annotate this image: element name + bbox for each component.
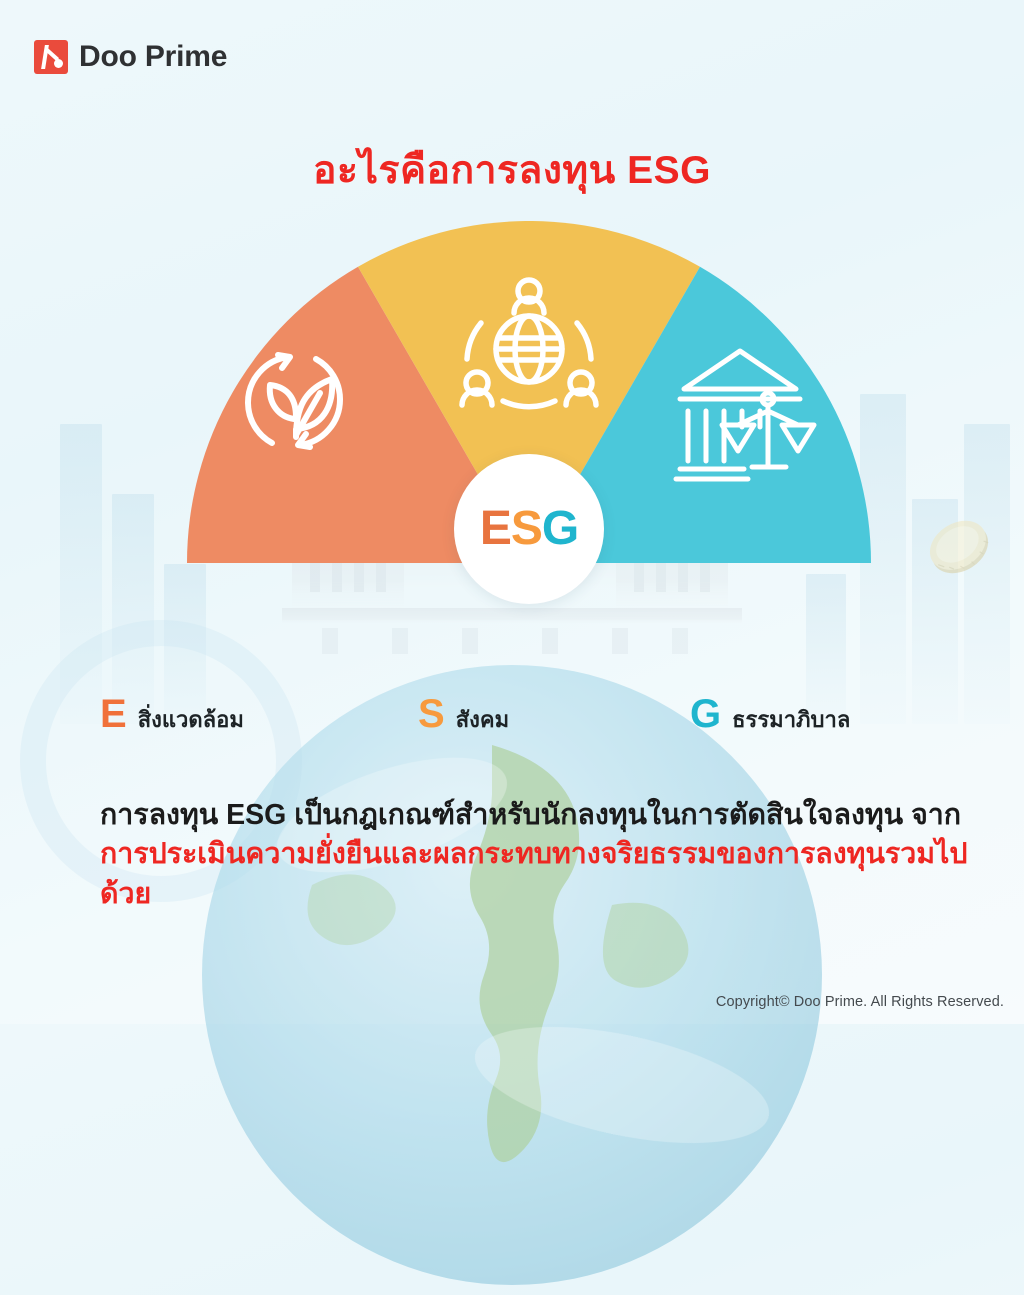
earth-globe-watermark xyxy=(192,655,832,1295)
legend-letter-e: E xyxy=(100,694,127,734)
legend-item-environment[interactable]: E สิ่งแวดล้อม xyxy=(100,694,244,737)
legend-item-governance[interactable]: G ธรรมาภิบาล xyxy=(690,694,850,737)
brand-logo[interactable]: Doo Prime xyxy=(34,40,227,74)
body-paragraph: การลงทุน ESG เป็นกฎเกณฑ์สำหรับนักลงทุนใน… xyxy=(100,796,970,914)
esg-legend: E สิ่งแวดล้อม S สังคม G ธรรมาภิบาล xyxy=(100,694,924,746)
legend-label-governance: ธรรมาภิบาล xyxy=(732,702,850,737)
center-letter-g: G xyxy=(542,502,578,555)
center-letter-e: E xyxy=(480,502,511,555)
gold-coin-icon xyxy=(917,507,1001,586)
esg-semicircle-chart: ESG xyxy=(186,221,872,571)
legend-label-environment: สิ่งแวดล้อม xyxy=(138,702,244,737)
legend-letter-g: G xyxy=(690,694,721,734)
logo-dot xyxy=(54,59,63,68)
page-title: อะไรคือการลงทุน ESG xyxy=(0,139,1024,201)
brand-name: Doo Prime xyxy=(79,40,227,74)
legend-item-social[interactable]: S สังคม xyxy=(418,694,509,737)
esg-center-badge: ESG xyxy=(454,454,604,604)
body-highlight: การประเมินความยั่งยืนและผลกระทบทางจริยธร… xyxy=(100,838,967,909)
legend-label-social: สังคม xyxy=(456,702,509,737)
infographic-canvas: Doo Prime อะไรคือการลงทุน ESG xyxy=(0,0,1024,1024)
copyright-footer: Copyright© Doo Prime. All Rights Reserve… xyxy=(716,994,1004,1010)
doo-prime-mark-icon xyxy=(34,40,68,74)
body-line-plain: การลงทุน ESG เป็นกฎเกณฑ์สำหรับนักลงทุนใน… xyxy=(100,799,903,831)
legend-letter-s: S xyxy=(418,694,445,734)
body-connector: จาก xyxy=(911,799,961,831)
center-letter-s: S xyxy=(511,502,542,555)
